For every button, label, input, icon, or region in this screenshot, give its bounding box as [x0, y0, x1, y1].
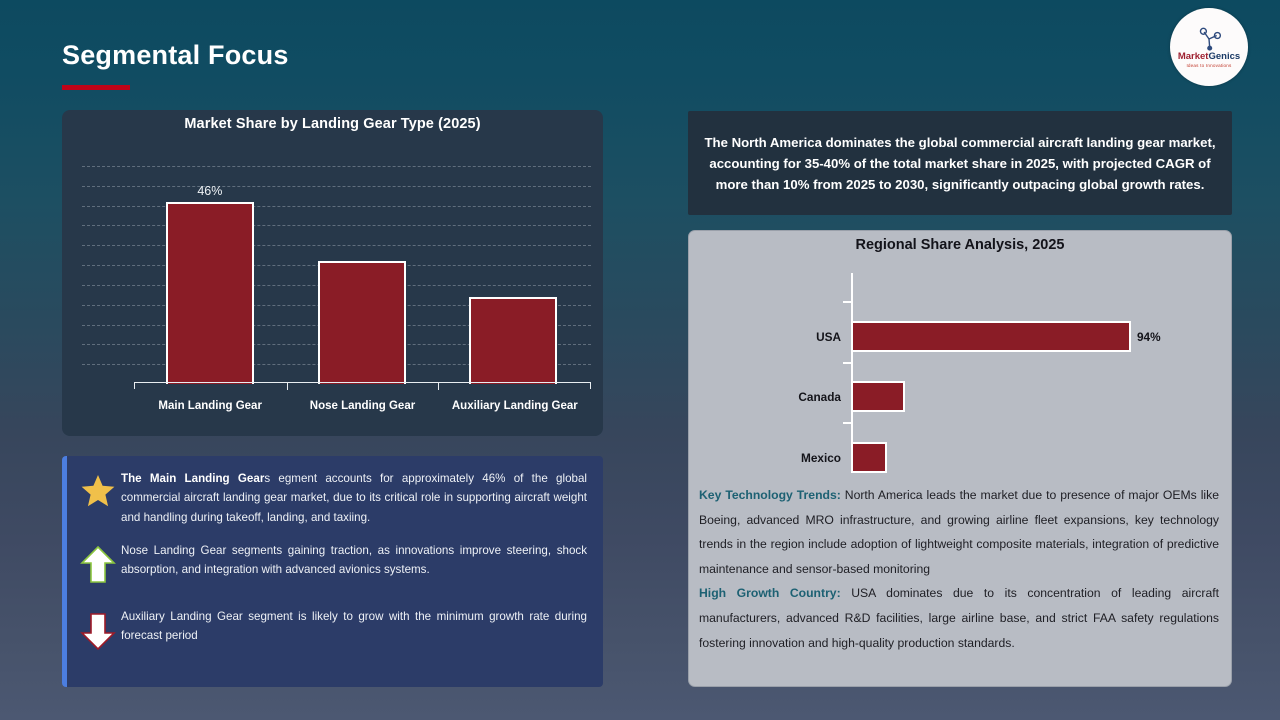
bar-value-label: 46%	[197, 184, 222, 198]
key-statement-box: The North America dominates the global c…	[688, 111, 1232, 215]
regional-bar-value: 94%	[1137, 330, 1161, 344]
regional-bar-row[interactable]: Canada	[689, 381, 1231, 412]
regional-axis-tick	[843, 301, 852, 303]
arrow-up-icon-wrapper	[75, 541, 121, 585]
regional-bar-label: Mexico	[689, 451, 851, 465]
arrow-up-icon	[80, 545, 116, 585]
bar-chart-x-axis	[134, 382, 591, 389]
regional-share-panel: Regional Share Analysis, 2025 USA94%Cana…	[688, 230, 1232, 687]
bar-rect[interactable]	[318, 261, 406, 384]
regional-axis-tick	[843, 422, 852, 424]
regional-paragraph: High Growth Country: USA dominates due t…	[699, 581, 1219, 655]
bar-column[interactable]: 46%	[166, 146, 254, 384]
page-title: Segmental Focus	[62, 40, 289, 71]
key-statement-text: The North America dominates the global c…	[700, 132, 1220, 195]
bar-rect[interactable]	[469, 297, 557, 384]
bar-category-label: Nose Landing Gear	[286, 400, 438, 412]
bar-chart-category-labels: Main Landing GearNose Landing GearAuxili…	[134, 400, 591, 412]
regional-bar-row[interactable]: USA94%	[689, 321, 1231, 352]
logo-brand-text: MarketGenics	[1178, 52, 1240, 62]
arrow-down-icon	[80, 611, 116, 651]
bar-chart-plot-area: 46%	[72, 146, 591, 384]
regional-bar-row[interactable]: Mexico	[689, 442, 1231, 473]
regional-bar-rect[interactable]	[851, 321, 1131, 352]
axis-tick	[438, 383, 439, 390]
title-underline	[62, 85, 130, 90]
bar-category-label: Main Landing Gear	[134, 400, 286, 412]
bar-column[interactable]	[469, 146, 557, 384]
insight-bullet: Auxiliary Landing Gear segment is likely…	[67, 607, 603, 651]
logo-tagline: Ideas to Innovations	[1186, 63, 1231, 68]
insight-bullet-text: The Main Landing Gears egment accounts f…	[121, 469, 591, 527]
regional-paragraph: Key Technology Trends: North America lea…	[699, 483, 1219, 581]
regional-analysis-text: Key Technology Trends: North America lea…	[699, 483, 1219, 655]
bar-chart-title: Market Share by Landing Gear Type (2025)	[62, 110, 603, 132]
regional-bar-rect[interactable]	[851, 442, 887, 473]
regional-bar-label: Canada	[689, 390, 851, 404]
star-icon-wrapper	[75, 469, 121, 509]
bar-column[interactable]	[318, 146, 406, 384]
regional-paragraph-lead: Key Technology Trends:	[699, 488, 841, 502]
bar-chart-panel: Market Share by Landing Gear Type (2025)…	[62, 110, 603, 436]
insights-panel: The Main Landing Gears egment accounts f…	[62, 456, 603, 687]
bar-rect[interactable]	[166, 202, 254, 384]
regional-axis-tick	[843, 362, 852, 364]
regional-chart-title: Regional Share Analysis, 2025	[689, 231, 1231, 253]
axis-tick	[287, 383, 288, 390]
bar-category-label: Auxiliary Landing Gear	[439, 400, 591, 412]
arrow-down-icon-wrapper	[75, 607, 121, 651]
insight-bullet-text: Nose Landing Gear segments gaining tract…	[121, 541, 591, 580]
company-logo: MarketGenics Ideas to Innovations	[1170, 8, 1248, 86]
insight-bullet: The Main Landing Gears egment accounts f…	[67, 469, 603, 527]
star-icon	[80, 473, 116, 509]
insight-bullet-lead: The Main Landing Gear	[121, 472, 264, 485]
regional-bar-rect[interactable]	[851, 381, 905, 412]
insight-bullet: Nose Landing Gear segments gaining tract…	[67, 541, 603, 585]
regional-paragraph-lead: High Growth Country:	[699, 586, 841, 600]
insight-bullet-text: Auxiliary Landing Gear segment is likely…	[121, 607, 591, 646]
regional-bar-label: USA	[689, 330, 851, 344]
regional-chart-plot-area: USA94%CanadaMexico	[689, 265, 1231, 465]
network-node-icon	[1195, 27, 1223, 51]
